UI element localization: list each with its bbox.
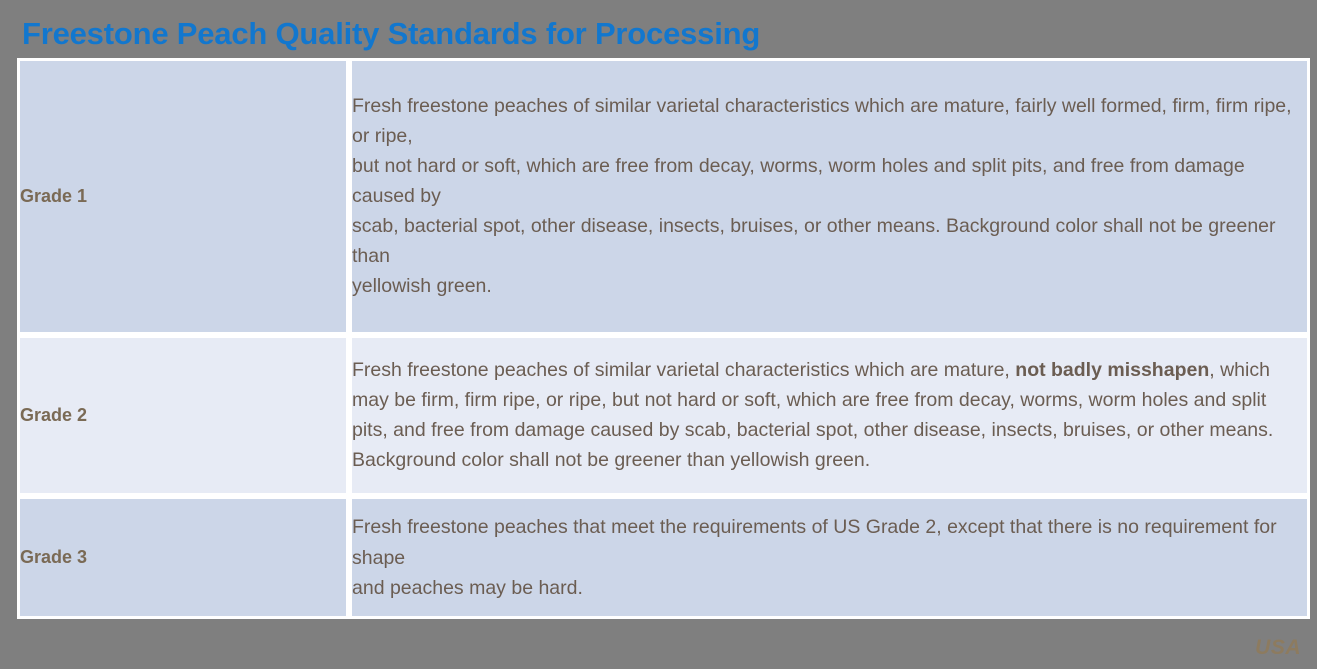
table-row: Grade 3 Fresh freestone peaches that mee… <box>17 496 1310 619</box>
grade-description-cell: Fresh freestone peaches that meet the re… <box>349 496 1310 619</box>
grade-label-cell: Grade 2 <box>17 335 349 496</box>
table-row: Grade 1 Fresh freestone peaches of simil… <box>17 58 1310 335</box>
table-row: Grade 2 Fresh freestone peaches of simil… <box>17 335 1310 496</box>
grade-description-cell: Fresh freestone peaches of similar varie… <box>349 58 1310 335</box>
grade-standards-table: Grade 1 Fresh freestone peaches of simil… <box>17 58 1310 619</box>
grade-label-cell: Grade 3 <box>17 496 349 619</box>
description-text: Fresh freestone peaches of similar varie… <box>352 95 1292 297</box>
description-text: Fresh freestone peaches that meet the re… <box>352 516 1277 598</box>
description-emphasis: not badly misshapen <box>1015 359 1209 381</box>
slide-root: Freestone Peach Quality Standards for Pr… <box>0 0 1317 669</box>
grade-description-cell: Fresh freestone peaches of similar varie… <box>349 335 1310 496</box>
grade-label-cell: Grade 1 <box>17 58 349 335</box>
page-title: Freestone Peach Quality Standards for Pr… <box>22 16 760 52</box>
table: Grade 1 Fresh freestone peaches of simil… <box>17 58 1310 619</box>
usa-watermark: USA <box>1255 636 1301 660</box>
description-text: Fresh freestone peaches of similar varie… <box>352 359 1015 381</box>
